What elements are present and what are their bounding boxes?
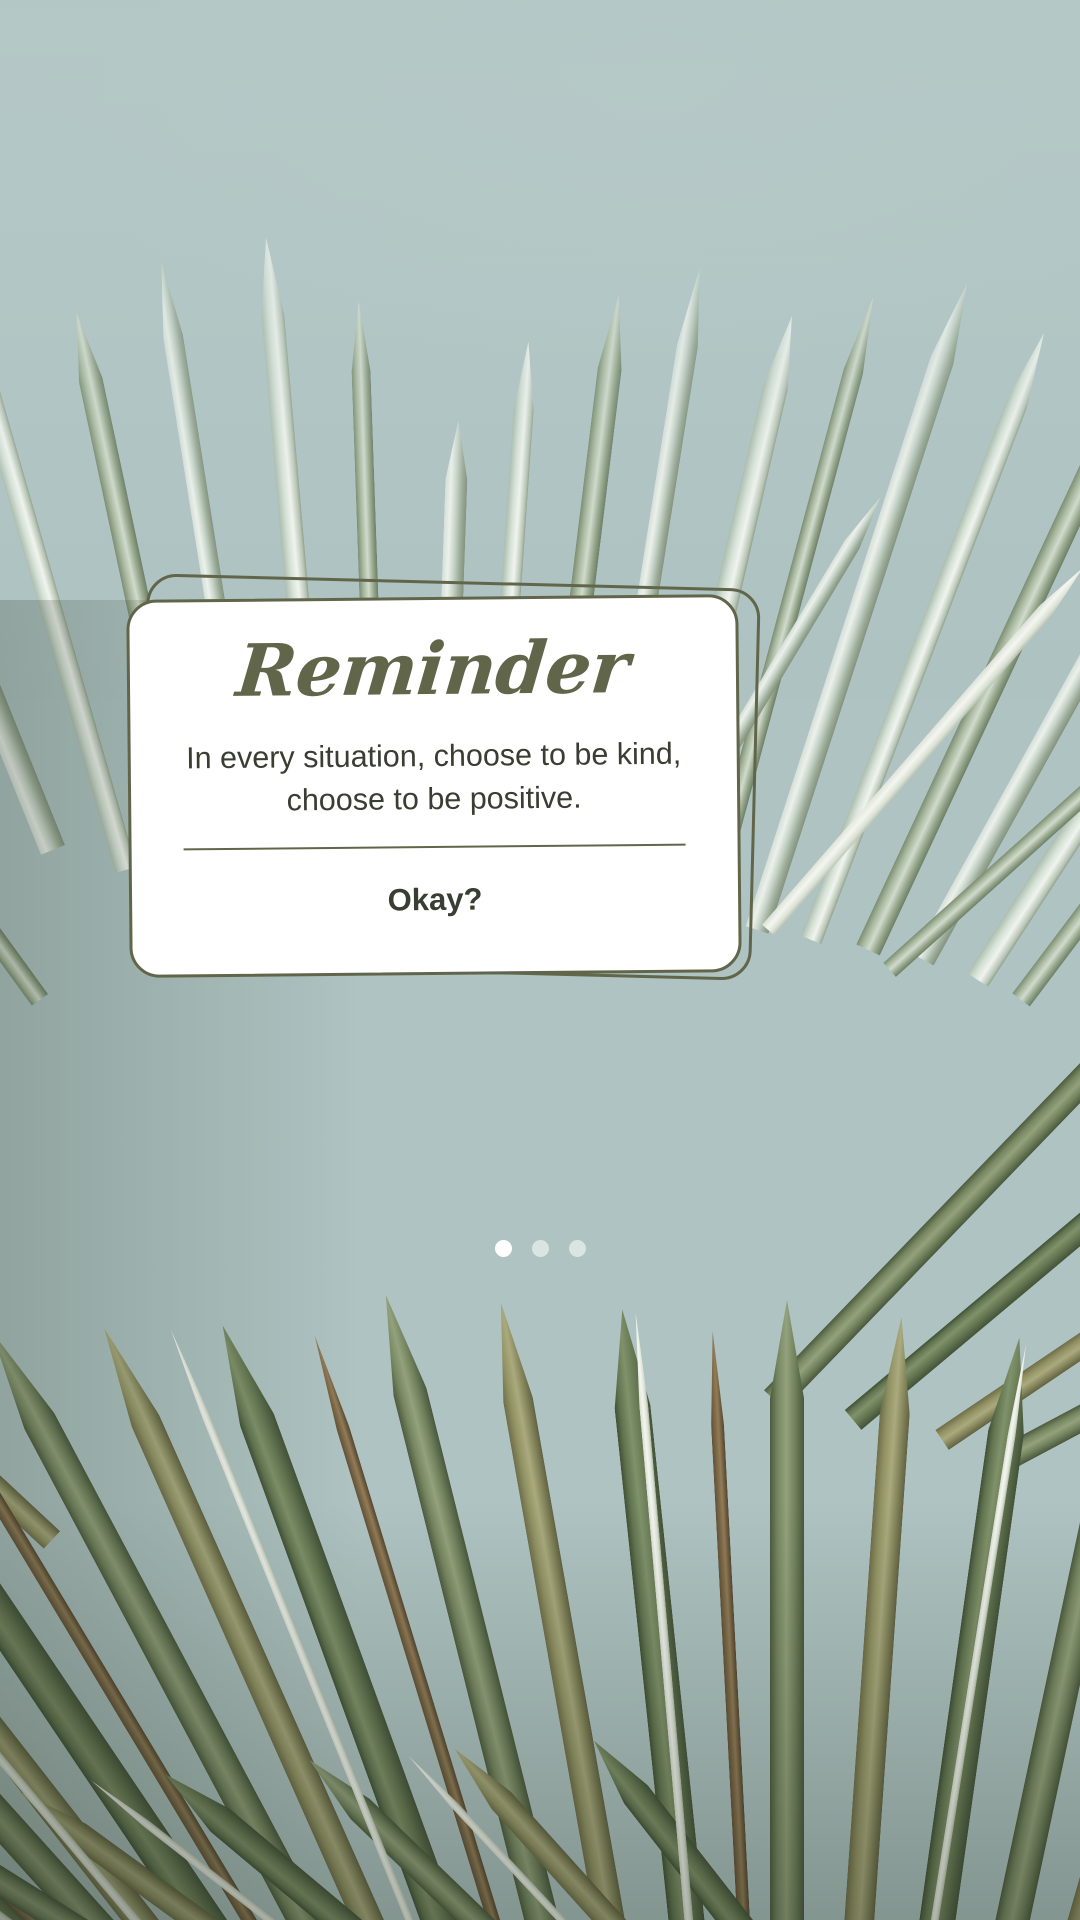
leaf-blade bbox=[764, 887, 1080, 1410]
card-divider bbox=[184, 843, 686, 850]
pagination-dot-2[interactable] bbox=[532, 1240, 549, 1257]
reminder-card[interactable]: Reminder In every situation, choose to b… bbox=[126, 594, 742, 978]
story-canvas: Reminder In every situation, choose to b… bbox=[0, 0, 1080, 1920]
card-body-text: In every situation, choose to be kind, c… bbox=[175, 733, 694, 822]
pagination-dot-1[interactable] bbox=[495, 1240, 512, 1257]
leaf-blade bbox=[845, 960, 1080, 1430]
card-footer-prompt[interactable]: Okay? bbox=[176, 879, 694, 920]
reminder-card-container: Reminder In every situation, choose to b… bbox=[128, 585, 752, 985]
pagination-dots bbox=[0, 1240, 1080, 1257]
atmospheric-haze-bottom bbox=[0, 1500, 1080, 1920]
card-title: Reminder bbox=[170, 629, 695, 707]
atmospheric-haze-top bbox=[0, 0, 1080, 520]
pagination-dot-3[interactable] bbox=[569, 1240, 586, 1257]
leaf-blade bbox=[997, 1148, 1080, 1471]
